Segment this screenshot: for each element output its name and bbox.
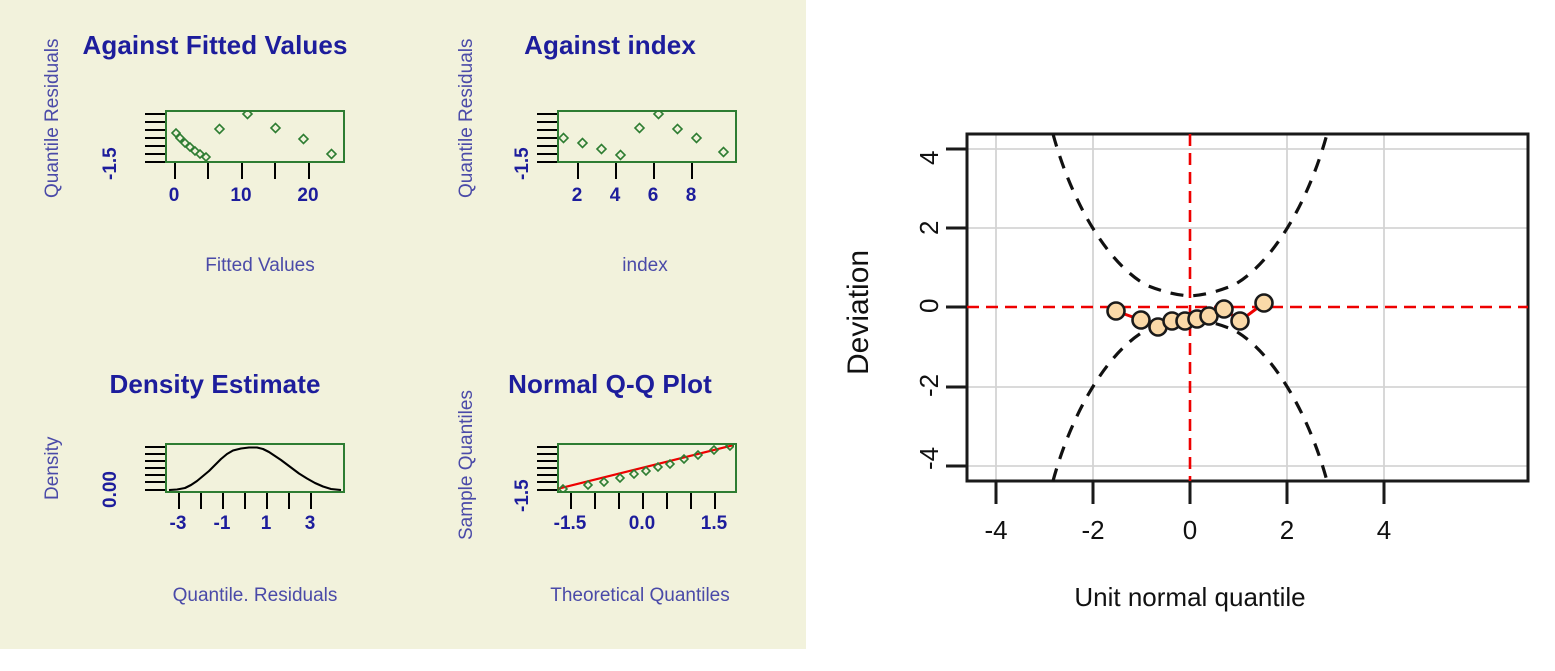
y-tick-fitted-7 — [145, 161, 165, 163]
y-axis-label-quantile-residuals-index: Quantile Residuals — [456, 39, 478, 198]
panel-against-index: Against index Quantile Residuals -1.5 — [420, 0, 806, 320]
y-tick-density-7 — [145, 489, 165, 491]
x-tick-label-density-1: 1 — [261, 513, 272, 535]
x-tick-label-index-4: 4 — [610, 185, 621, 207]
panel-title-density-estimate: Density Estimate — [20, 369, 410, 400]
x-tick-qq-3 — [618, 493, 620, 509]
worm-x-tick-label--2: -2 — [1081, 515, 1104, 546]
y-tick-qq-7 — [537, 489, 557, 491]
y-tick-fitted-2 — [145, 121, 165, 123]
x-tick-fitted-2 — [207, 163, 209, 179]
y-tick-qq-5 — [537, 474, 557, 476]
y-tick-density-2 — [145, 453, 165, 455]
scatter-points-index — [559, 112, 735, 161]
x-tick-label-density--3: -3 — [170, 513, 187, 535]
y-axis-label-sample-quantiles: Sample Quantiles — [456, 390, 478, 540]
panel-title-against-fitted-values: Against Fitted Values — [20, 30, 410, 61]
x-tick-label-qq--1.5: -1.5 — [554, 513, 587, 535]
y-tick-index-3 — [537, 129, 557, 131]
y-tick-fitted-3 — [145, 129, 165, 131]
x-tick-label-index-8: 8 — [686, 185, 697, 207]
x-tick-label-index-6: 6 — [648, 185, 659, 207]
worm-x-tick-label-4: 4 — [1377, 515, 1391, 546]
x-tick-index-2 — [577, 163, 579, 179]
x-axis-label-index: index — [455, 255, 835, 277]
worm-point — [1216, 301, 1233, 318]
worm-x-tick-label--4: -4 — [984, 515, 1007, 546]
plot-area-density-estimate — [165, 443, 345, 493]
y-tick-index-6 — [537, 153, 557, 155]
x-tick-qq-7 — [714, 493, 716, 509]
scatter-points-fitted — [167, 112, 343, 161]
worm-point — [1108, 303, 1125, 320]
x-tick-label-qq-0.0: 0.0 — [629, 513, 655, 535]
plot-area-normal-qq-plot — [557, 443, 737, 493]
x-tick-label-density--1: -1 — [214, 513, 231, 535]
x-tick-fitted-5 — [308, 163, 310, 179]
y-tick-label-index: -1.5 — [512, 147, 534, 180]
y-tick-density-1 — [145, 446, 165, 448]
x-tick-index-4 — [615, 163, 617, 179]
x-axis-label-quantile-residuals: Quantile. Residuals — [65, 585, 445, 607]
x-tick-qq-1 — [570, 493, 572, 509]
x-tick-label-qq-1.5: 1.5 — [701, 513, 727, 535]
x-tick-qq-4 — [642, 493, 644, 509]
x-tick-fitted-3 — [241, 163, 243, 179]
x-tick-qq-5 — [666, 493, 668, 509]
y-tick-density-4 — [145, 467, 165, 469]
y-tick-index-4 — [537, 137, 557, 139]
x-tick-label-fitted-10: 10 — [230, 185, 251, 207]
y-tick-index-1 — [537, 113, 557, 115]
y-tick-fitted-1 — [145, 113, 165, 115]
x-tick-fitted-4 — [274, 163, 276, 179]
y-tick-density-5 — [145, 474, 165, 476]
y-tick-label-qq: -1.5 — [512, 479, 534, 512]
x-tick-density-7 — [310, 493, 312, 509]
x-tick-label-index-2: 2 — [572, 185, 583, 207]
x-tick-fitted-1 — [174, 163, 176, 179]
panel-against-fitted-values: Against Fitted Values Quantile Residuals… — [0, 0, 420, 320]
x-tick-label-density-3: 3 — [305, 513, 316, 535]
y-tick-index-2 — [537, 121, 557, 123]
worm-point — [1232, 313, 1249, 330]
worm-plot-svg — [806, 0, 1555, 671]
x-tick-density-5 — [266, 493, 268, 509]
worm-y-tickmarks — [946, 149, 967, 466]
x-axis-label-theoretical-quantiles: Theoretical Quantiles — [450, 585, 830, 607]
x-tick-qq-2 — [594, 493, 596, 509]
x-tick-density-6 — [288, 493, 290, 509]
x-tick-label-fitted-0: 0 — [169, 185, 180, 207]
plot-area-against-fitted-values — [165, 110, 345, 163]
y-tick-density-6 — [145, 481, 165, 483]
y-tick-index-5 — [537, 145, 557, 147]
worm-x-axis-label: Unit normal quantile — [1074, 582, 1305, 613]
worm-point — [1133, 312, 1150, 329]
y-tick-label-fitted: -1.5 — [100, 147, 122, 180]
y-tick-fitted-6 — [145, 153, 165, 155]
panel-density-estimate: Density Estimate Density 0.00 -3 -1 1 3 … — [0, 340, 420, 649]
panel-normal-qq-plot: Normal Q-Q Plot Sample Quantiles -1.5 — [420, 340, 806, 649]
worm-plot-panel: Deviation 4 2 0 -2 -4 — [806, 0, 1555, 671]
density-curve — [167, 445, 343, 491]
qq-plot-content — [558, 445, 734, 491]
y-axis-label-density: Density — [42, 437, 64, 500]
y-tick-index-7 — [537, 161, 557, 163]
diagnostics-panel: Against Fitted Values Quantile Residuals… — [0, 0, 806, 649]
x-tick-label-fitted-20: 20 — [297, 185, 318, 207]
y-tick-qq-3 — [537, 460, 557, 462]
x-tick-qq-6 — [690, 493, 692, 509]
y-tick-qq-6 — [537, 481, 557, 483]
worm-x-tick-label-0: 0 — [1183, 515, 1197, 546]
x-tick-index-8 — [691, 163, 693, 179]
y-tick-density-3 — [145, 460, 165, 462]
x-tick-density-1 — [178, 493, 180, 509]
x-tick-index-6 — [653, 163, 655, 179]
plot-area-against-index — [557, 110, 737, 163]
x-tick-density-4 — [244, 493, 246, 509]
x-tick-density-2 — [200, 493, 202, 509]
y-tick-fitted-5 — [145, 145, 165, 147]
y-tick-qq-1 — [537, 446, 557, 448]
worm-point — [1256, 295, 1273, 312]
x-tick-density-3 — [222, 493, 224, 509]
worm-x-tick-label-2: 2 — [1280, 515, 1294, 546]
worm-x-tickmarks — [996, 481, 1384, 504]
y-tick-qq-4 — [537, 467, 557, 469]
y-tick-fitted-4 — [145, 137, 165, 139]
y-axis-label-quantile-residuals: Quantile Residuals — [42, 39, 64, 198]
x-axis-label-fitted-values: Fitted Values — [70, 255, 450, 277]
y-tick-qq-2 — [537, 453, 557, 455]
y-tick-label-density: 0.00 — [100, 471, 122, 508]
